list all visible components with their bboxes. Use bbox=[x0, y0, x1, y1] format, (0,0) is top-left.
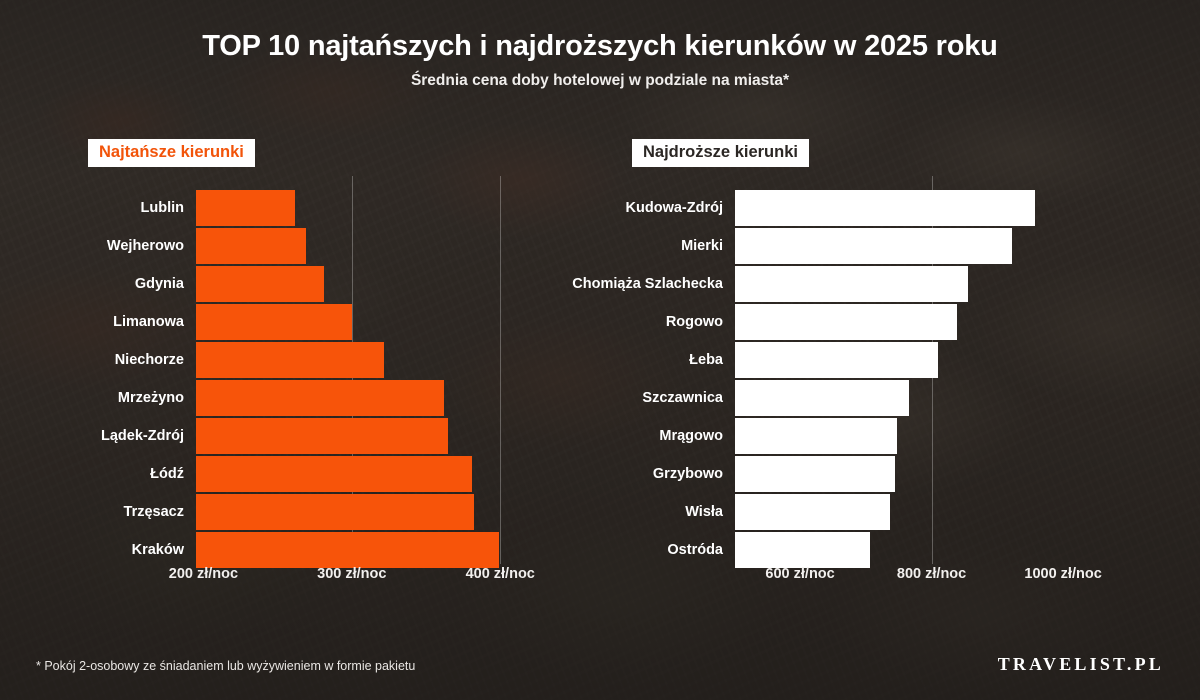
bar[interactable] bbox=[735, 494, 890, 530]
bar-row[interactable]: Mrzeżyno bbox=[0, 380, 560, 416]
bar-row[interactable]: Niechorze bbox=[0, 342, 560, 378]
bar-category-label: Wisła bbox=[685, 504, 723, 520]
bar-row[interactable]: Ostróda bbox=[560, 532, 1200, 568]
bar-row[interactable]: Mrągowo bbox=[560, 418, 1200, 454]
chart-cheapest: LublinWejherowoGdyniaLimanowaNiechorzeMr… bbox=[0, 100, 560, 600]
bar-category-label: Grzybowo bbox=[653, 466, 723, 482]
axis-tick-label: 400 zł/noc bbox=[466, 566, 535, 582]
bar[interactable] bbox=[735, 304, 957, 340]
axis-tick-label: 800 zł/noc bbox=[897, 566, 966, 582]
brand-logo: TRAVELIST.PL bbox=[998, 654, 1164, 675]
axis-tick-label: 1000 zł/noc bbox=[1024, 566, 1101, 582]
bar-category-label: Wejherowo bbox=[107, 238, 184, 254]
bar-category-label: Ostróda bbox=[667, 542, 723, 558]
bar-category-label: Mierki bbox=[681, 238, 723, 254]
bar[interactable] bbox=[196, 190, 295, 226]
bar-row[interactable]: Kraków bbox=[0, 532, 560, 568]
bar-row[interactable]: Szczawnica bbox=[560, 380, 1200, 416]
bar-category-label: Mrzeżyno bbox=[118, 390, 184, 406]
bar-category-label: Szczawnica bbox=[642, 390, 723, 406]
bar-row[interactable]: Grzybowo bbox=[560, 456, 1200, 492]
bar-category-label: Łeba bbox=[689, 352, 723, 368]
bar-category-label: Rogowo bbox=[666, 314, 723, 330]
bar[interactable] bbox=[735, 228, 1012, 264]
bar[interactable] bbox=[196, 380, 444, 416]
bar[interactable] bbox=[196, 304, 352, 340]
bar[interactable] bbox=[735, 266, 968, 302]
bar[interactable] bbox=[196, 456, 472, 492]
bar-row[interactable]: Chomiąża Szlachecka bbox=[560, 266, 1200, 302]
bar-row[interactable]: Kudowa-Zdrój bbox=[560, 190, 1200, 226]
bar-category-label: Łódź bbox=[150, 466, 184, 482]
bar[interactable] bbox=[196, 342, 384, 378]
page-title: TOP 10 najtańszych i najdroższych kierun… bbox=[0, 0, 1200, 63]
bar-category-label: Gdynia bbox=[135, 276, 184, 292]
axis-tick-label: 600 zł/noc bbox=[765, 566, 834, 582]
axis-tick-label: 200 zł/noc bbox=[169, 566, 238, 582]
bar-category-label: Mrągowo bbox=[659, 428, 723, 444]
bar-row[interactable]: Trzęsacz bbox=[0, 494, 560, 530]
bar-row[interactable]: Wisła bbox=[560, 494, 1200, 530]
bar[interactable] bbox=[735, 342, 938, 378]
chart-most-expensive: Kudowa-ZdrójMierkiChomiąża SzlacheckaRog… bbox=[560, 100, 1200, 600]
bar-row[interactable]: Wejherowo bbox=[0, 228, 560, 264]
infographic-header: TOP 10 najtańszych i najdroższych kierun… bbox=[0, 0, 1200, 90]
bar-category-label: Lądek-Zdrój bbox=[101, 428, 184, 444]
footnote: * Pokój 2-osobowy ze śniadaniem lub wyży… bbox=[36, 659, 415, 673]
bar[interactable] bbox=[196, 266, 324, 302]
bar-category-label: Kraków bbox=[132, 542, 184, 558]
bar-row[interactable]: Rogowo bbox=[560, 304, 1200, 340]
bar[interactable] bbox=[196, 228, 306, 264]
bar-category-label: Kudowa-Zdrój bbox=[626, 200, 723, 216]
bar-row[interactable]: Łódź bbox=[0, 456, 560, 492]
axis-tick-label: 300 zł/noc bbox=[317, 566, 386, 582]
panel-cheapest: Najtańsze kierunki LublinWejherowoGdynia… bbox=[0, 100, 560, 600]
bar[interactable] bbox=[735, 532, 870, 568]
bar-category-label: Chomiąża Szlachecka bbox=[572, 276, 723, 292]
bar-row[interactable]: Gdynia bbox=[0, 266, 560, 302]
bar-row[interactable]: Lublin bbox=[0, 190, 560, 226]
bar-category-label: Lublin bbox=[141, 200, 185, 216]
bar[interactable] bbox=[196, 418, 448, 454]
bar[interactable] bbox=[735, 190, 1035, 226]
bar-row[interactable]: Łeba bbox=[560, 342, 1200, 378]
bar-row[interactable]: Lądek-Zdrój bbox=[0, 418, 560, 454]
bar-row[interactable]: Limanowa bbox=[0, 304, 560, 340]
bar-category-label: Trzęsacz bbox=[124, 504, 184, 520]
bar-category-label: Limanowa bbox=[113, 314, 184, 330]
panel-most-expensive: Najdroższe kierunki Kudowa-ZdrójMierkiCh… bbox=[560, 100, 1200, 600]
bar[interactable] bbox=[196, 494, 474, 530]
bar-row[interactable]: Mierki bbox=[560, 228, 1200, 264]
bar[interactable] bbox=[196, 532, 499, 568]
page-subtitle: Średnia cena doby hotelowej w podziale n… bbox=[0, 63, 1200, 90]
bar-category-label: Niechorze bbox=[115, 352, 184, 368]
bar[interactable] bbox=[735, 380, 909, 416]
bar[interactable] bbox=[735, 418, 897, 454]
bar[interactable] bbox=[735, 456, 895, 492]
